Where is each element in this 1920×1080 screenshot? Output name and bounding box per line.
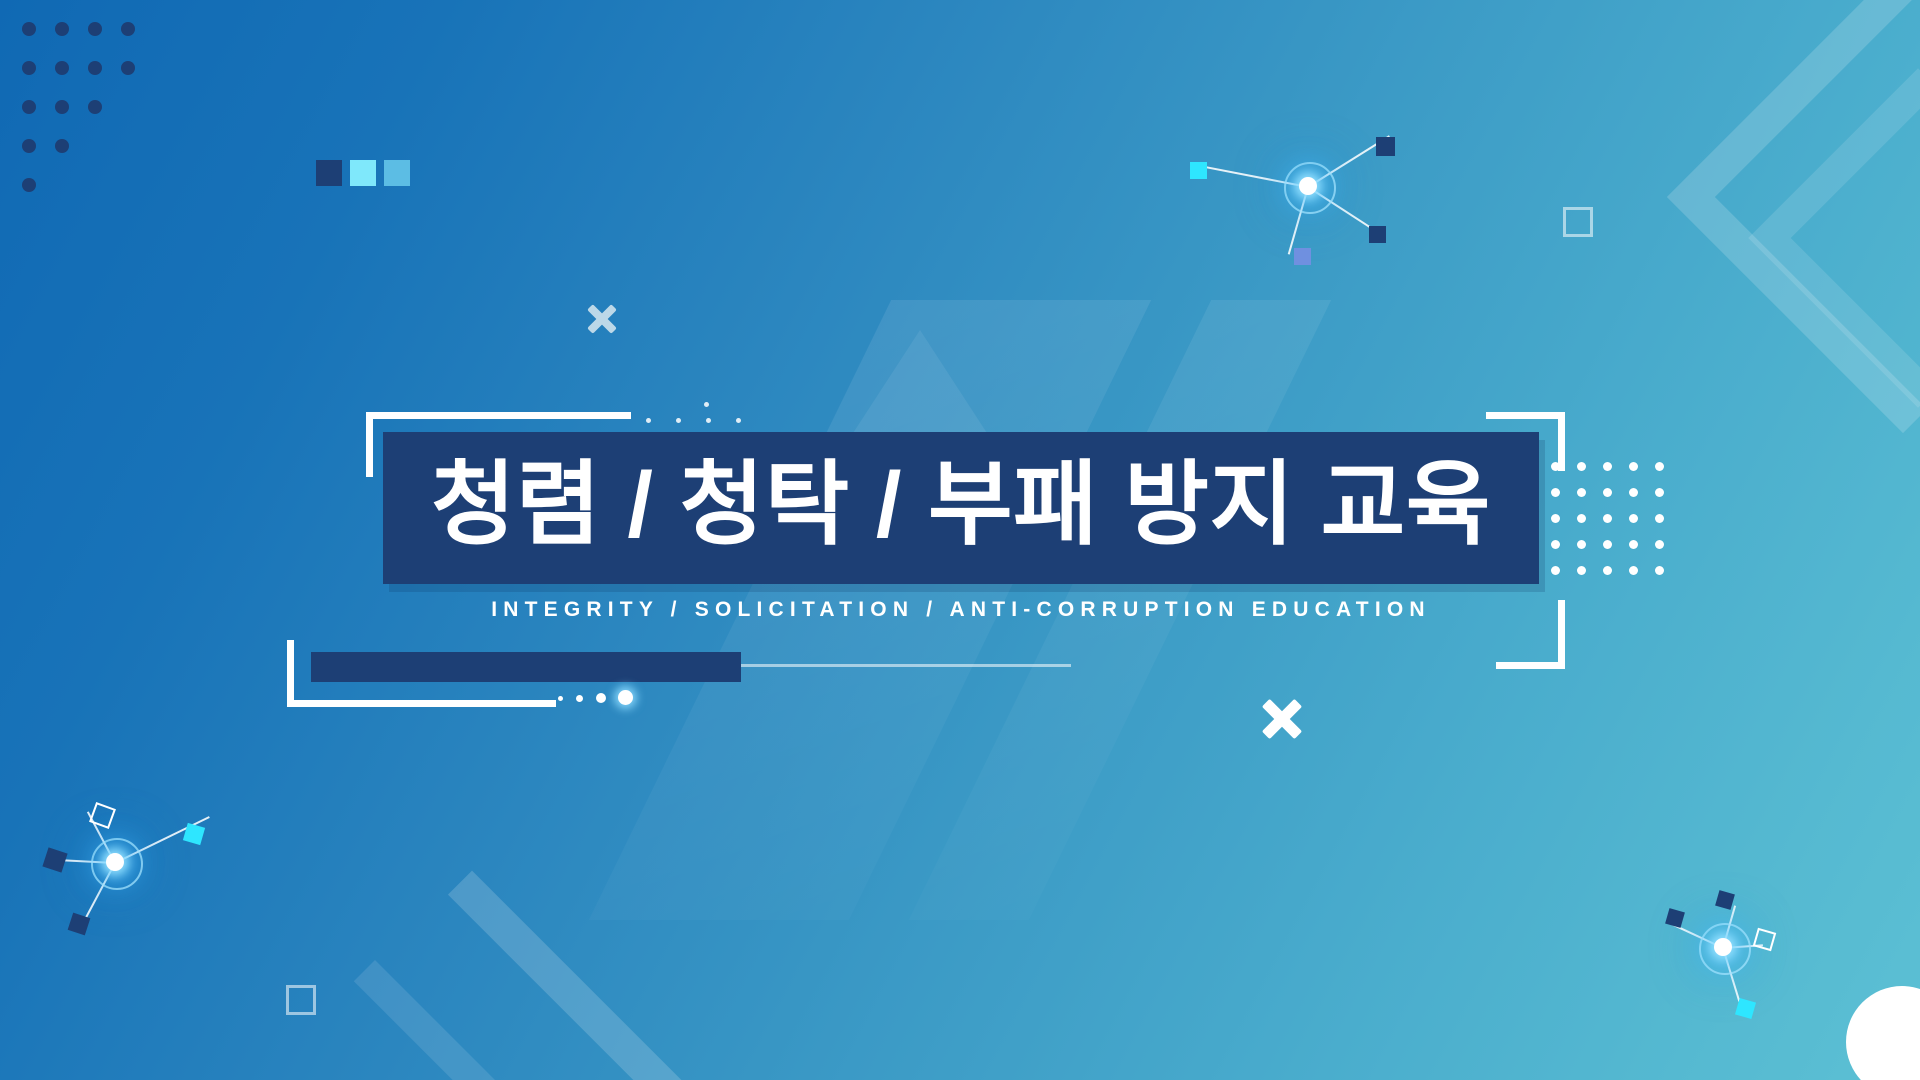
grid-dot bbox=[1603, 566, 1612, 575]
grid-dot bbox=[1655, 488, 1664, 497]
chevron-top-right-outer bbox=[1667, 0, 1920, 433]
constellation-node-navy bbox=[1665, 908, 1685, 928]
grid-dot bbox=[1551, 566, 1560, 575]
constellation-node-navy bbox=[1376, 137, 1395, 156]
grid-dot bbox=[1655, 540, 1664, 549]
constellation-edge bbox=[50, 859, 115, 864]
grid-dot bbox=[1551, 488, 1560, 497]
slide-canvas: 청렴 / 청탁 / 부패 방지 교육 INTEGRITY / SOLICITAT… bbox=[0, 0, 1920, 1080]
grid-dot bbox=[1629, 514, 1638, 523]
constellation-core bbox=[1299, 177, 1317, 195]
grid-dot bbox=[1603, 462, 1612, 471]
tiny-dot bbox=[736, 418, 741, 423]
constellation-node-cyan bbox=[183, 823, 205, 845]
constellation-ring bbox=[1699, 923, 1751, 975]
grid-dot bbox=[1577, 540, 1586, 549]
constellation-ring bbox=[91, 838, 143, 890]
constellation-bottom-right bbox=[1645, 890, 1815, 1040]
constellation-node-cyan bbox=[1190, 162, 1207, 179]
subtitle: INTEGRITY / SOLICITATION / ANTI-CORRUPTI… bbox=[383, 598, 1539, 622]
outline-square-bottomleft bbox=[286, 985, 316, 1015]
square-lightblue bbox=[384, 160, 410, 186]
grid-dot bbox=[1551, 514, 1560, 523]
constellation-node-navy bbox=[1715, 890, 1735, 910]
grid-dot bbox=[22, 178, 36, 192]
tiny-dot-row bbox=[646, 400, 766, 430]
grid-dot bbox=[1603, 540, 1612, 549]
constellation-node-navy bbox=[42, 847, 67, 872]
grid-dot bbox=[1655, 566, 1664, 575]
constellation-edge bbox=[1307, 186, 1371, 229]
outline-square-right bbox=[1563, 207, 1593, 237]
grid-dot bbox=[1629, 462, 1638, 471]
constellation-edge bbox=[1193, 164, 1308, 188]
x-mark-small-icon bbox=[583, 300, 621, 338]
growing-dot bbox=[558, 696, 563, 701]
growing-dot bbox=[576, 695, 583, 702]
constellation-top-right bbox=[1190, 120, 1420, 250]
grid-dot bbox=[55, 22, 69, 36]
constellation-edge bbox=[1722, 948, 1744, 1014]
grid-dot bbox=[55, 61, 69, 75]
accent-bar bbox=[311, 652, 741, 682]
grid-dot bbox=[1577, 462, 1586, 471]
grid-dot bbox=[22, 100, 36, 114]
x-mark-large-icon bbox=[1256, 693, 1308, 745]
constellation-node-cyan bbox=[1735, 998, 1756, 1019]
constellation-core bbox=[1714, 938, 1732, 956]
grid-dot bbox=[1577, 514, 1586, 523]
square-cyan bbox=[350, 160, 376, 186]
constellation-edge bbox=[1722, 905, 1736, 948]
tiny-dot bbox=[704, 402, 709, 407]
growing-dot-row bbox=[558, 688, 668, 712]
grid-dot bbox=[88, 61, 102, 75]
grid-dot bbox=[1551, 462, 1560, 471]
constellation-edge bbox=[1671, 923, 1724, 949]
tiny-dot bbox=[676, 418, 681, 423]
grid-dot bbox=[1629, 566, 1638, 575]
chevron-bottom-left-outer bbox=[215, 871, 730, 1080]
constellation-core bbox=[106, 853, 124, 871]
grid-dot bbox=[1577, 488, 1586, 497]
constellation-node-outline bbox=[89, 802, 116, 829]
grid-dot bbox=[1629, 540, 1638, 549]
constellation-edge bbox=[1307, 135, 1389, 188]
grid-dot bbox=[1629, 488, 1638, 497]
grid-dot bbox=[88, 22, 102, 36]
tiny-dot bbox=[706, 418, 711, 423]
constellation-node-navy bbox=[68, 913, 91, 936]
constellation-edge bbox=[79, 863, 116, 930]
grid-dot bbox=[1603, 488, 1612, 497]
grid-dot bbox=[22, 22, 36, 36]
constellation-edge bbox=[115, 816, 210, 864]
constellation-bottom-left bbox=[35, 790, 215, 945]
grid-dot bbox=[55, 100, 69, 114]
chevron-bottom-left-inner bbox=[177, 960, 573, 1080]
grid-dot bbox=[22, 139, 36, 153]
constellation-edge bbox=[87, 811, 116, 863]
constellation-node-outline bbox=[1753, 928, 1777, 952]
grid-dot bbox=[1655, 514, 1664, 523]
tiny-dot bbox=[646, 418, 651, 423]
accent-line bbox=[741, 664, 1071, 667]
corner-circle bbox=[1846, 986, 1920, 1080]
grid-dot bbox=[1577, 566, 1586, 575]
constellation-edge bbox=[1288, 187, 1309, 255]
grid-dot bbox=[121, 22, 135, 36]
grid-dot bbox=[1603, 514, 1612, 523]
constellation-node-periwinkle bbox=[1294, 248, 1311, 265]
grid-dot bbox=[1655, 462, 1664, 471]
grid-dot bbox=[121, 61, 135, 75]
constellation-edge bbox=[1723, 944, 1763, 949]
grid-dot bbox=[22, 61, 36, 75]
grid-dot bbox=[55, 139, 69, 153]
constellation-node-navy bbox=[1369, 226, 1386, 243]
chevron-top-right-inner bbox=[1748, 68, 1920, 407]
growing-dot-glow bbox=[618, 690, 633, 705]
title-bar: 청렴 / 청탁 / 부패 방지 교육 bbox=[383, 432, 1539, 584]
growing-dot bbox=[596, 693, 606, 703]
grid-dot bbox=[88, 100, 102, 114]
dot-grid-right bbox=[1551, 462, 1681, 592]
square-navy bbox=[316, 160, 342, 186]
constellation-ring bbox=[1284, 162, 1336, 214]
page-title: 청렴 / 청탁 / 부패 방지 교육 bbox=[431, 459, 1491, 557]
grid-dot bbox=[1551, 540, 1560, 549]
dot-grid-topleft bbox=[22, 22, 182, 202]
